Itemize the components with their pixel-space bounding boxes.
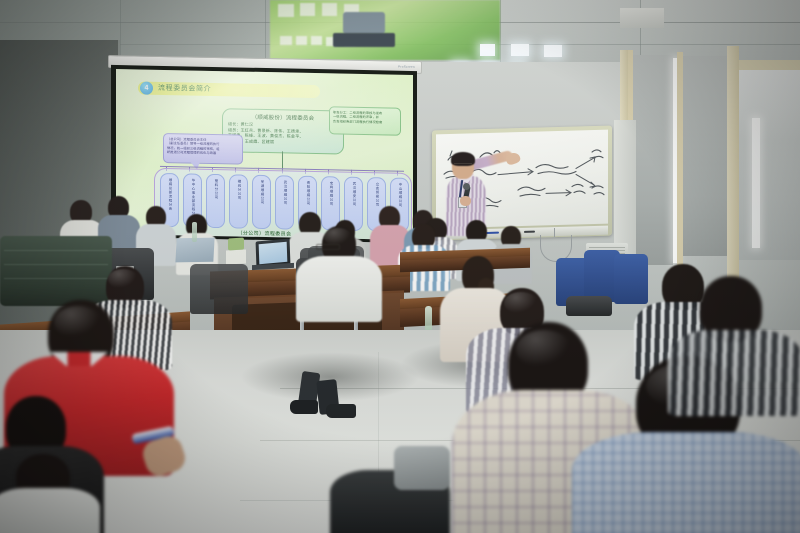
org-unit-label: 模具分公司	[236, 179, 241, 200]
eyeglasses	[316, 244, 340, 250]
projector-ceiling-reflection	[270, 0, 500, 60]
window-header	[739, 60, 800, 70]
attendee-shoe	[290, 400, 318, 414]
presenter-hand	[460, 196, 471, 206]
attendee-white-shirt	[0, 472, 100, 533]
attendee-white-shirt-laptop	[296, 226, 382, 318]
wall-panel	[620, 8, 664, 28]
laptop-screen	[259, 242, 288, 264]
screen-brand-label: ProScreen	[398, 65, 415, 69]
callout-right-line: 负责组织各部门流程执行情况检查	[330, 119, 400, 125]
org-unit-label: 塑料分公司	[213, 179, 218, 200]
chair-dark[interactable]	[190, 264, 248, 314]
window-glass	[739, 60, 800, 260]
org-unit-label: 宝鸡顺威公司	[328, 181, 333, 206]
committee-line: 吴明明、王成霞、区建斌	[228, 138, 339, 146]
window-blind	[633, 55, 673, 265]
ceiling-light-panel	[511, 44, 529, 56]
org-unit-label: 立志贸易公司	[374, 182, 379, 207]
attendee-shoe	[326, 404, 356, 418]
projector-icon	[343, 12, 385, 34]
org-unit: 芜湖顺威公司	[252, 175, 271, 229]
bag	[394, 446, 450, 490]
window-post	[727, 46, 739, 281]
ceiling-light-panel	[544, 45, 562, 57]
attendee-grey-shirt	[668, 276, 800, 406]
slide-title-text: 流程委员会简介	[158, 83, 211, 94]
org-unit-label: 芜湖顺威公司	[259, 180, 264, 205]
org-unit: 模具分公司	[229, 174, 248, 228]
tissue-box	[226, 249, 246, 264]
org-unit-label: 中山顺威公司	[397, 183, 402, 208]
org-connector-vertical	[282, 151, 283, 168]
conference-room-photo: ProScreen 4 流程委员会简介 （顺威股份）流程委员会 组长：黄仁汉 组…	[0, 0, 800, 533]
org-unit-label: 武汉顺安公司	[351, 182, 356, 207]
org-unit-label: 贵阳顺威公司	[305, 181, 310, 206]
microphone-head	[463, 183, 470, 190]
water-bottle[interactable]	[192, 222, 197, 242]
desk-item	[228, 238, 244, 251]
org-unit-label: 武汉顺威公司	[282, 180, 287, 205]
presenter-glasses	[454, 163, 472, 167]
callout-left-line: 织推进公司流程管理的优化与改善	[164, 150, 242, 156]
projector-mount	[333, 33, 395, 47]
callout-right: 职责分工：二级流程的审核与发布 一级流程、二级流程的评审，并 负责组织各部门流程…	[329, 106, 401, 135]
window-light-gap	[752, 118, 760, 248]
committee-members: 组长：黄仁汉 组员：王红兵、曹景新、陈伟、王德承、 王贤勇、陈峰、王波、黄俊杰、…	[228, 121, 339, 146]
water-bottle[interactable]	[425, 306, 432, 332]
window-blind	[683, 56, 727, 256]
callout-left: （总公司）流程委员会主任 （副主任委员）督导一级流程的执行 情况，统一组织三级流…	[163, 133, 243, 165]
ceiling-light-panel	[480, 44, 495, 56]
slide-number-badge: 4	[140, 82, 153, 95]
